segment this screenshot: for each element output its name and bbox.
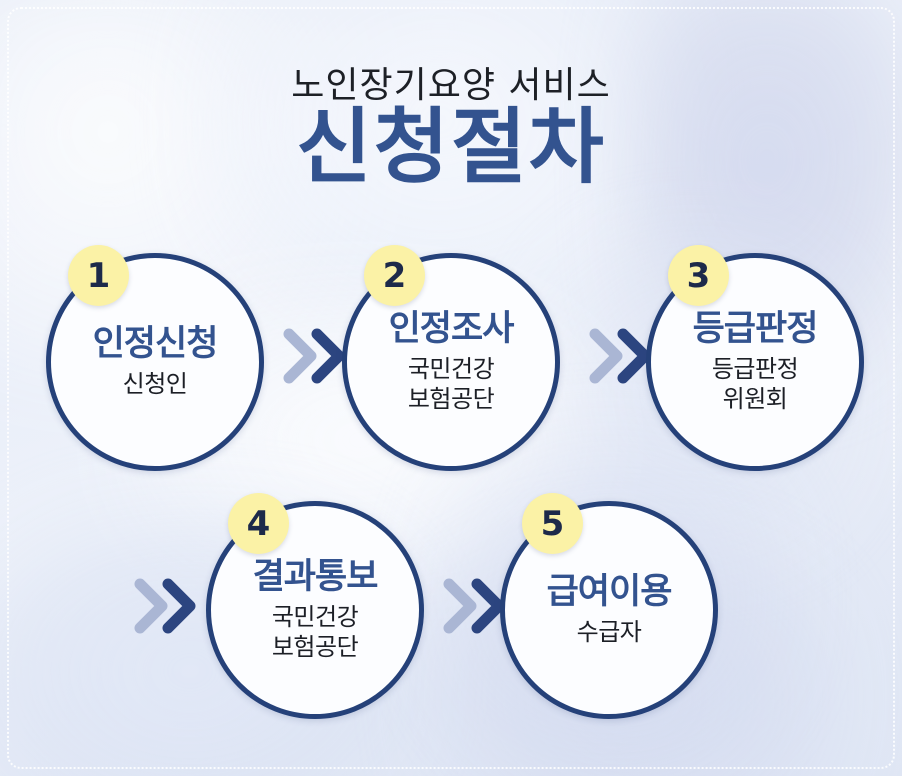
step-2-subtitle: 국민건강 보험공단 xyxy=(408,355,494,414)
page-title: 신청절차 xyxy=(0,105,902,191)
step-2[interactable]: 2 인정조사 국민건강 보험공단 xyxy=(342,253,560,471)
step-3-subtitle: 등급판정 위원회 xyxy=(712,355,798,414)
step-3-title: 등급판정 xyxy=(693,310,818,349)
step-3-number-badge: 3 xyxy=(668,245,729,306)
chevron-3-to-4 xyxy=(128,568,204,644)
step-4-number-badge: 4 xyxy=(228,493,289,554)
step-1-title: 인정신청 xyxy=(93,325,218,364)
step-5[interactable]: 5 급여이용 수급자 xyxy=(500,501,718,719)
step-1-subtitle: 신청인 xyxy=(123,370,188,399)
step-1-number-badge: 1 xyxy=(68,245,129,306)
infographic-poster: 노인장기요양 서비스 신청절차 1 인정신청 신청인 2 인정조사 국민건강 보… xyxy=(0,0,902,776)
step-3[interactable]: 3 등급판정 등급판정 위원회 xyxy=(646,253,864,471)
double-chevron-right-icon xyxy=(128,568,204,644)
step-2-number-badge: 2 xyxy=(364,245,425,306)
step-4-title: 결과통보 xyxy=(253,558,378,597)
step-4-subtitle: 국민건강 보험공단 xyxy=(272,603,358,662)
step-5-number-badge: 5 xyxy=(522,493,583,554)
step-2-title: 인정조사 xyxy=(389,310,514,349)
step-1[interactable]: 1 인정신청 신청인 xyxy=(46,253,264,471)
step-5-title: 급여이용 xyxy=(547,573,672,612)
step-5-subtitle: 수급자 xyxy=(577,618,642,647)
step-4[interactable]: 4 결과통보 국민건강 보험공단 xyxy=(206,501,424,719)
